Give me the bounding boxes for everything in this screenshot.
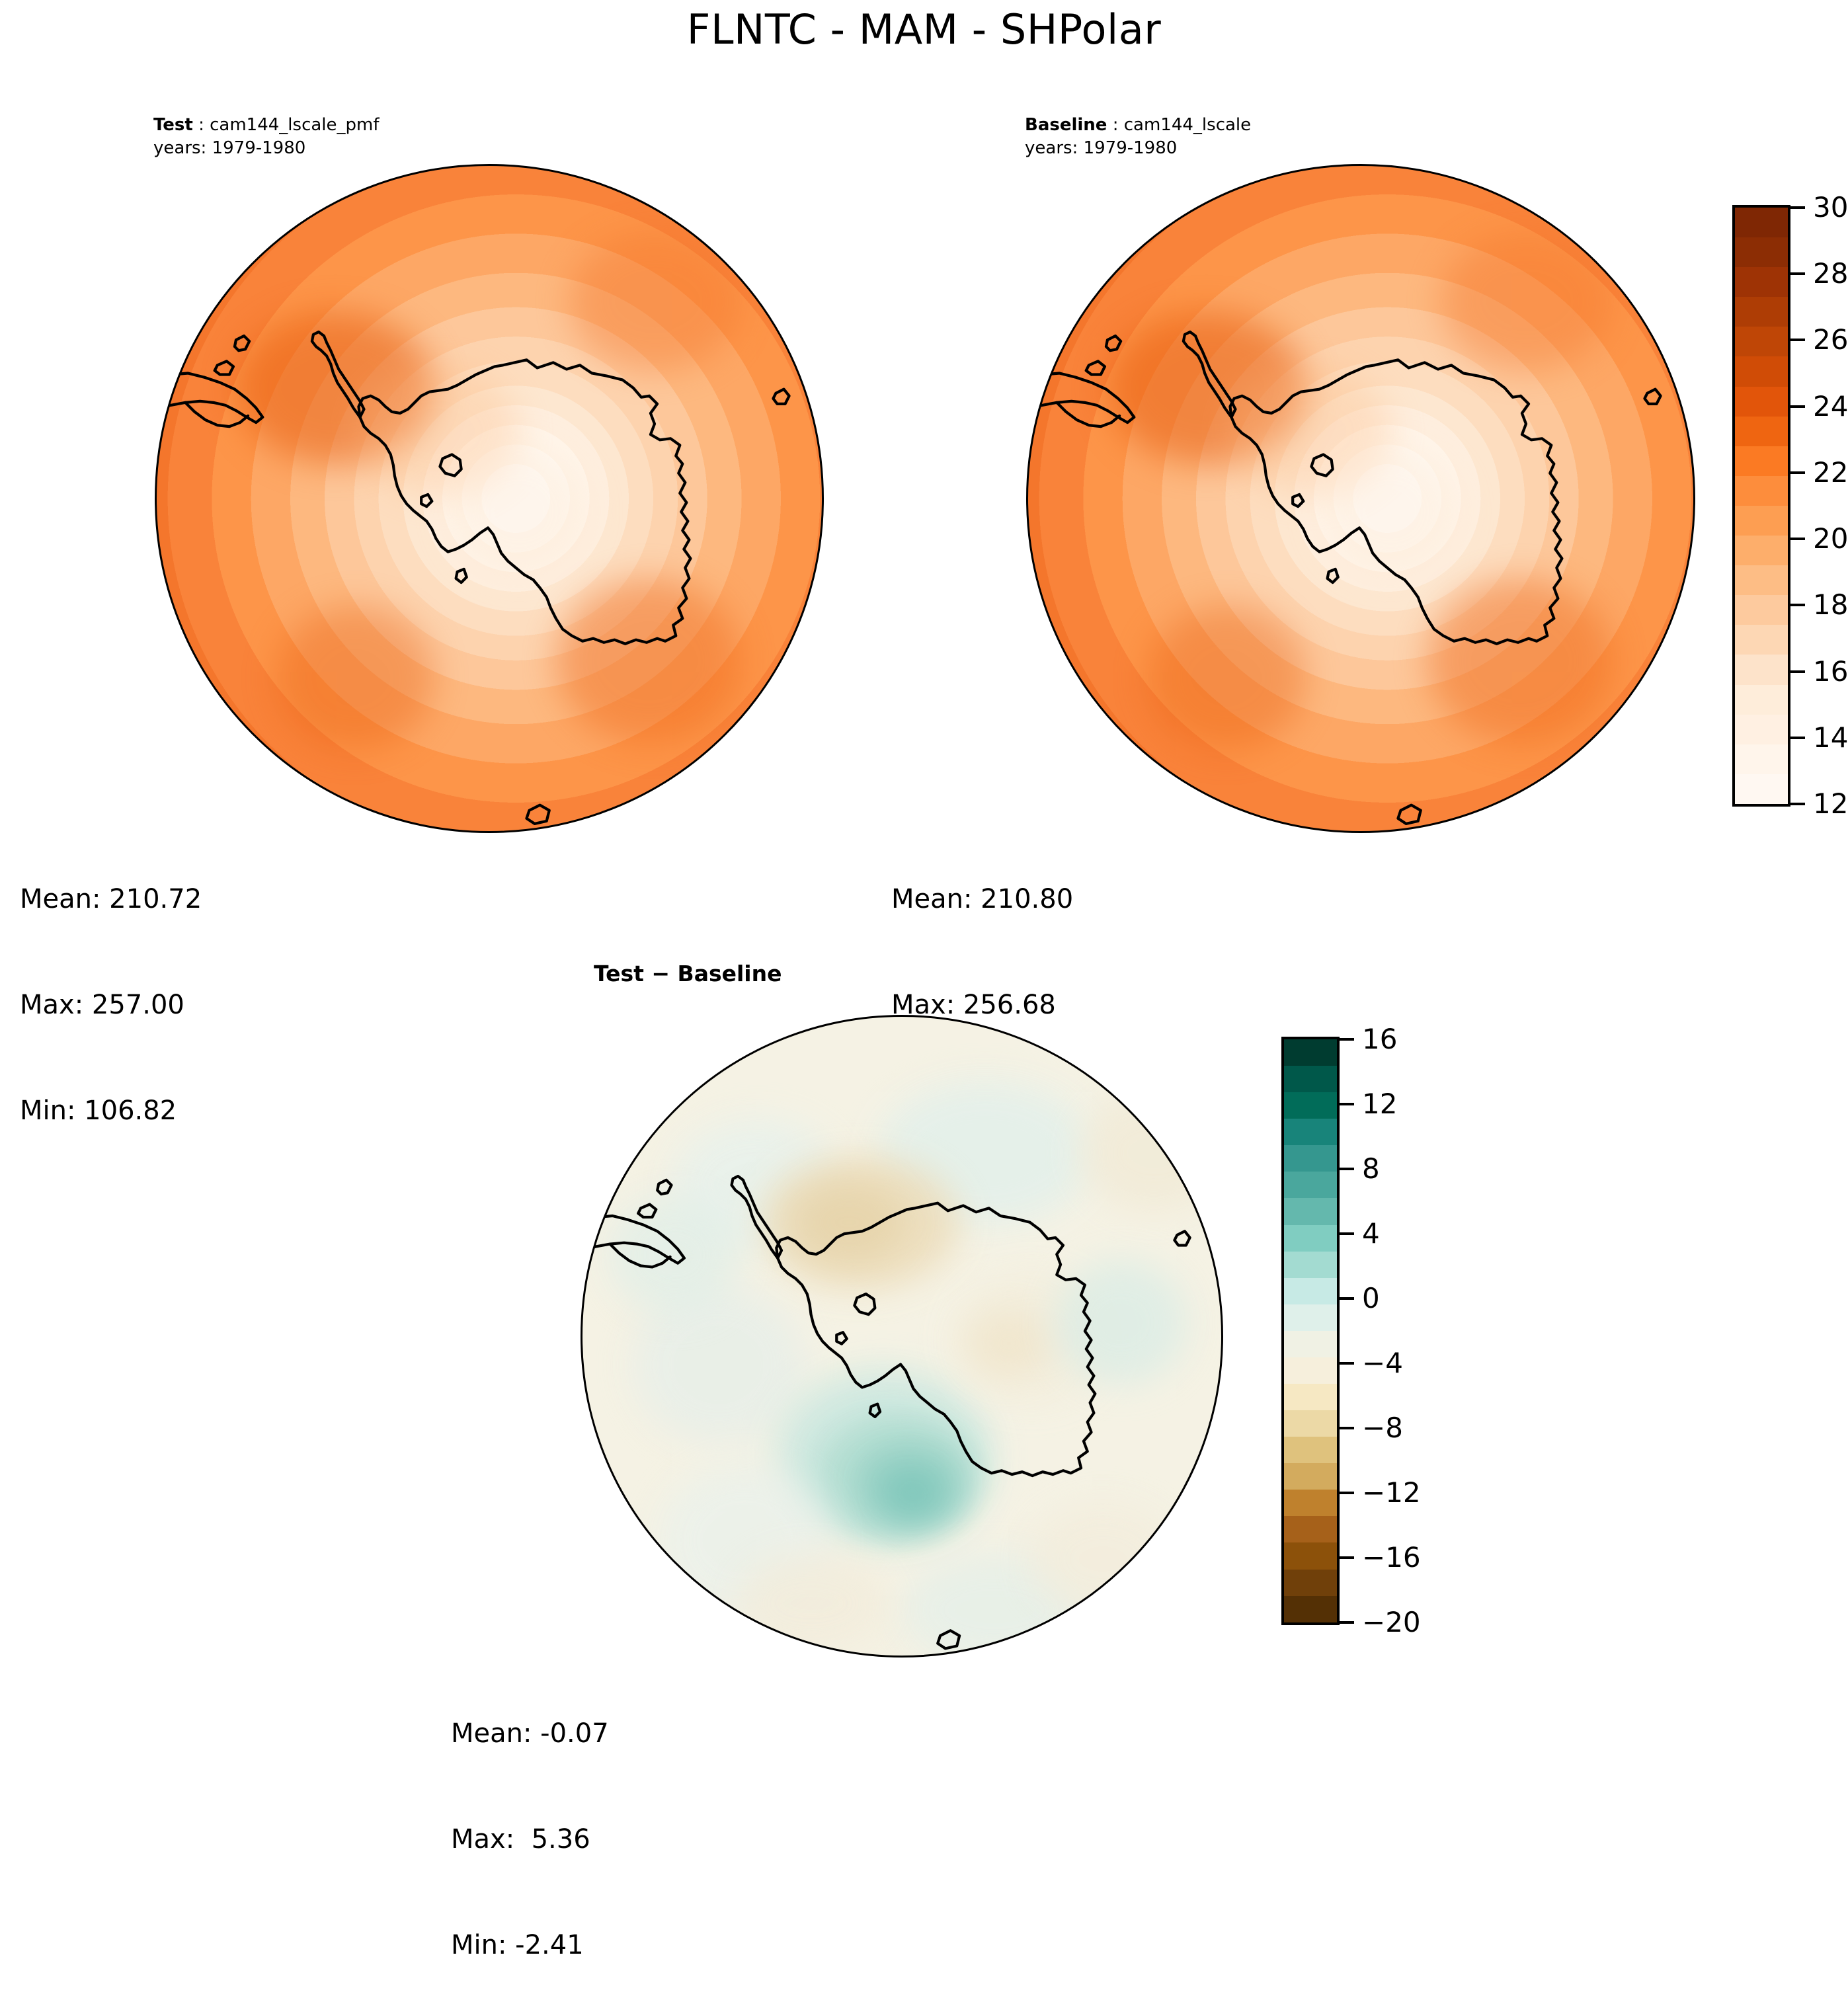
coastline-segment bbox=[773, 389, 789, 404]
colorbar-segment bbox=[1284, 1463, 1337, 1490]
colorbar-tick-label: 280 bbox=[1813, 260, 1848, 288]
colorbar-segment bbox=[1284, 1357, 1337, 1384]
colorbar-segment bbox=[1284, 1490, 1337, 1516]
colorbar-tick-label: 300 bbox=[1813, 194, 1848, 221]
coastline-segment bbox=[938, 1630, 959, 1648]
colorbar-segment bbox=[1735, 327, 1788, 356]
coastline-segment bbox=[312, 332, 364, 417]
coastline-segment bbox=[870, 1404, 880, 1417]
coastline-segment bbox=[1027, 373, 1134, 422]
baseline-role-label: Baseline bbox=[1025, 115, 1107, 135]
colorbar-segment bbox=[1284, 1331, 1337, 1357]
colorbar-tick-label: 16 bbox=[1362, 1025, 1397, 1053]
colorbar-segment bbox=[1284, 1596, 1337, 1622]
colorbar-segment bbox=[1735, 595, 1788, 625]
colorbar-segment bbox=[1735, 446, 1788, 476]
colorbar-segment bbox=[1735, 417, 1788, 446]
coastline-segment bbox=[526, 805, 549, 824]
coastline-segment bbox=[1174, 1231, 1189, 1245]
colorbar-tick-label: 0 bbox=[1362, 1285, 1380, 1312]
main-colorbar-gradient bbox=[1732, 205, 1790, 807]
baseline-mean: Mean: 210.80 bbox=[891, 882, 1073, 917]
colorbar-segment bbox=[1735, 237, 1788, 267]
colorbar-segment bbox=[1284, 1172, 1337, 1198]
colorbar-tick-mark bbox=[1790, 538, 1805, 540]
colorbar-segment bbox=[1284, 1198, 1337, 1224]
difference-colorbar-gradient bbox=[1281, 1037, 1340, 1625]
colorbar-tick-label: 260 bbox=[1813, 326, 1848, 354]
colorbar-segment bbox=[1735, 476, 1788, 506]
coastline-segment bbox=[854, 1294, 875, 1314]
page-title: FLNTC - MAM - SHPolar bbox=[0, 5, 1848, 54]
colorbar-segment bbox=[1284, 1225, 1337, 1252]
colorbar-segment bbox=[1735, 774, 1788, 804]
difference-panel-title: Test − Baseline bbox=[594, 961, 782, 986]
colorbar-segment bbox=[1284, 1066, 1337, 1092]
coastline-segment bbox=[1293, 495, 1303, 506]
colorbar-segment bbox=[1284, 1278, 1337, 1304]
difference-stats: Mean: -0.07 Max: 5.36 Min: -2.41 bbox=[451, 1646, 609, 1998]
test-max: Max: 257.00 bbox=[20, 988, 202, 1023]
colorbar-tick-label: 140 bbox=[1813, 724, 1848, 752]
colorbar-tick-mark bbox=[1340, 1297, 1354, 1300]
colorbar-tick-mark bbox=[1340, 1232, 1354, 1235]
colorbar-tick-mark bbox=[1340, 1168, 1354, 1170]
colorbar-tick-label: 240 bbox=[1813, 393, 1848, 420]
coastline-segment bbox=[1311, 454, 1332, 475]
colorbar-tick-label: 180 bbox=[1813, 591, 1848, 619]
colorbar-tick-mark bbox=[1790, 339, 1805, 341]
colorbar-segment bbox=[1284, 1570, 1337, 1596]
colorbar-segment bbox=[1284, 1145, 1337, 1172]
colorbar-tick-mark bbox=[1790, 206, 1805, 209]
coastline-segment bbox=[456, 569, 467, 582]
coastline-segment bbox=[235, 336, 249, 350]
test-min: Min: 106.82 bbox=[20, 1094, 202, 1129]
colorbar-tick-mark bbox=[1340, 1103, 1354, 1105]
coastline-segment bbox=[776, 1203, 1095, 1476]
colorbar-segment bbox=[1284, 1410, 1337, 1437]
test-case-name: cam144_lscale_pmf bbox=[210, 115, 379, 135]
colorbar-segment bbox=[1735, 506, 1788, 536]
difference-mean: Mean: -0.07 bbox=[451, 1716, 609, 1751]
colorbar-tick-label: −16 bbox=[1362, 1544, 1421, 1572]
colorbar-segment bbox=[1284, 1384, 1337, 1410]
colorbar-tick-label: 8 bbox=[1362, 1155, 1380, 1183]
colorbar-segment bbox=[1735, 744, 1788, 774]
coastline-segment bbox=[1057, 403, 1119, 426]
test-years: years: 1979-1980 bbox=[153, 137, 380, 160]
colorbar-tick-mark bbox=[1790, 405, 1805, 408]
coastline-segment bbox=[215, 361, 233, 374]
colorbar-tick-mark bbox=[1340, 1362, 1354, 1365]
difference-max: Max: 5.36 bbox=[451, 1822, 609, 1857]
difference-min: Min: -2.41 bbox=[451, 1928, 609, 1963]
colorbar-segment bbox=[1284, 1119, 1337, 1145]
colorbar-tick-mark bbox=[1340, 1038, 1354, 1041]
colorbar-tick-mark bbox=[1340, 1492, 1354, 1494]
colorbar-tick-mark bbox=[1790, 604, 1805, 606]
colorbar-segment bbox=[1735, 267, 1788, 297]
colorbar-tick-mark bbox=[1340, 1427, 1354, 1429]
colorbar-segment bbox=[1284, 1092, 1337, 1119]
baseline-polar-map[interactable] bbox=[1027, 165, 1694, 832]
coastline-segment bbox=[1106, 336, 1121, 350]
baseline-antarctica-coastline bbox=[1027, 165, 1694, 832]
colorbar-tick-mark bbox=[1340, 1621, 1354, 1624]
coastline-segment bbox=[185, 403, 248, 426]
colorbar-tick-label: 120 bbox=[1813, 790, 1848, 818]
colorbar-segment bbox=[1735, 685, 1788, 715]
test-role-label: Test bbox=[153, 115, 193, 135]
coastline-segment bbox=[1230, 360, 1562, 643]
colorbar-segment bbox=[1735, 356, 1788, 386]
colorbar-segment bbox=[1735, 387, 1788, 417]
colorbar-tick-label: 4 bbox=[1362, 1220, 1380, 1248]
colorbar-tick-label: −20 bbox=[1362, 1609, 1421, 1636]
coastline-segment bbox=[421, 495, 432, 506]
test-polar-map[interactable] bbox=[156, 165, 823, 832]
coastline-segment bbox=[657, 1180, 671, 1194]
coastline-segment bbox=[610, 1244, 670, 1267]
colorbar-tick-label: 220 bbox=[1813, 459, 1848, 487]
colorbar-tick-label: 200 bbox=[1813, 525, 1848, 553]
coastline-segment bbox=[1328, 569, 1338, 582]
colorbar-tick-label: −12 bbox=[1362, 1479, 1421, 1507]
colorbar-tick-mark bbox=[1790, 272, 1805, 275]
coastline-segment bbox=[358, 360, 690, 643]
baseline-separator: : bbox=[1107, 115, 1123, 135]
colorbar-segment bbox=[1284, 1542, 1337, 1569]
colorbar-tick-label: −8 bbox=[1362, 1414, 1403, 1442]
difference-polar-map[interactable] bbox=[582, 1016, 1222, 1656]
coastline-segment bbox=[440, 454, 461, 475]
colorbar-segment bbox=[1284, 1516, 1337, 1542]
colorbar-segment bbox=[1735, 655, 1788, 684]
colorbar-tick-mark bbox=[1790, 670, 1805, 673]
colorbar-segment bbox=[1284, 1252, 1337, 1278]
coastline-segment bbox=[1086, 361, 1105, 374]
colorbar-tick-mark bbox=[1790, 737, 1805, 739]
difference-antarctica-coastline bbox=[582, 1016, 1222, 1656]
coastline-segment bbox=[1644, 389, 1660, 404]
colorbar-segment bbox=[1284, 1304, 1337, 1331]
colorbar-tick-label: 12 bbox=[1362, 1090, 1397, 1118]
colorbar-tick-label: 160 bbox=[1813, 658, 1848, 686]
colorbar-tick-label: −4 bbox=[1362, 1349, 1403, 1377]
colorbar-segment bbox=[1284, 1437, 1337, 1463]
test-panel-header: Test : cam144_lscale_pmf years: 1979-198… bbox=[153, 114, 380, 160]
colorbar-segment bbox=[1735, 715, 1788, 744]
colorbar-segment bbox=[1735, 297, 1788, 327]
coastline-segment bbox=[156, 373, 262, 422]
baseline-years: years: 1979-1980 bbox=[1025, 137, 1251, 160]
coastline-segment bbox=[732, 1176, 782, 1258]
coastline-segment bbox=[836, 1332, 846, 1343]
colorbar-segment bbox=[1284, 1039, 1337, 1066]
colorbar-segment bbox=[1735, 625, 1788, 655]
test-mean: Mean: 210.72 bbox=[20, 882, 202, 917]
colorbar-segment bbox=[1735, 565, 1788, 595]
baseline-panel-header: Baseline : cam144_lscale years: 1979-198… bbox=[1025, 114, 1251, 160]
test-stats: Mean: 210.72 Max: 257.00 Min: 106.82 bbox=[20, 812, 202, 1164]
colorbar-tick-mark bbox=[1790, 471, 1805, 474]
colorbar-segment bbox=[1735, 208, 1788, 237]
test-separator: : bbox=[193, 115, 210, 135]
coastline-segment bbox=[1184, 332, 1236, 417]
test-antarctica-coastline bbox=[156, 165, 823, 832]
baseline-case-name: cam144_lscale bbox=[1124, 115, 1251, 135]
colorbar-tick-mark bbox=[1340, 1556, 1354, 1559]
coastline-segment bbox=[638, 1205, 656, 1217]
colorbar-segment bbox=[1735, 536, 1788, 565]
coastline-segment bbox=[1398, 805, 1420, 824]
colorbar-tick-mark bbox=[1790, 803, 1805, 805]
